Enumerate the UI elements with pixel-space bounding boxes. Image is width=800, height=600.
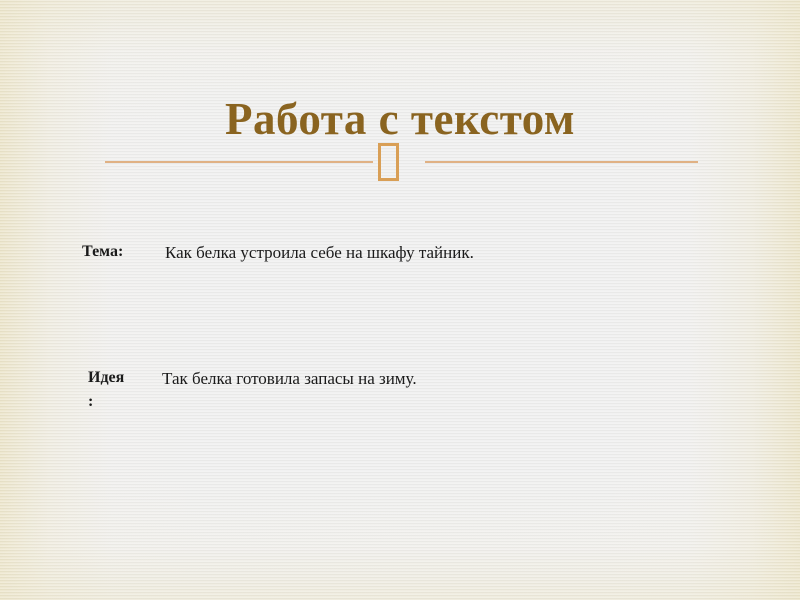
field-ideya: Идея : Так белка готовила запасы на зиму…: [88, 366, 508, 414]
field-ideya-label: Идея :: [88, 366, 162, 414]
background-horizontal-tint: [0, 0, 800, 600]
field-ideya-value: Так белка готовила запасы на зиму.: [162, 366, 492, 391]
slide-title: Работа с текстом: [100, 92, 700, 146]
background-vertical-tint: [0, 0, 800, 600]
background-paper-texture: [0, 0, 800, 600]
slide-canvas: Работа с текстом Тема: Как белка устроил…: [0, 0, 800, 600]
field-tema: Тема: Как белка устроила себе на шкафу т…: [82, 240, 512, 265]
title-divider: [0, 143, 800, 183]
missing-glyph-box-icon: [378, 143, 399, 181]
divider-rule-right: [425, 161, 698, 163]
field-tema-label: Тема:: [82, 240, 165, 264]
divider-rule-left: [105, 161, 373, 163]
field-tema-value: Как белка устроила себе на шкафу тайник.: [165, 240, 510, 265]
